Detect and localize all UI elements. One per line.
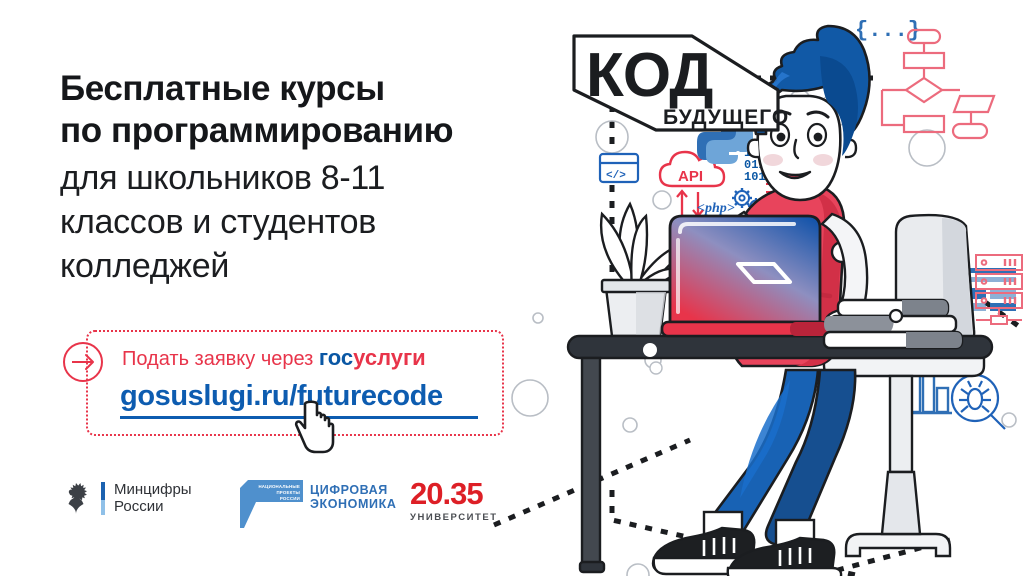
subtitle-line-3: колледжей: [60, 244, 530, 288]
cta-text: Подать заявку через госуслуги: [122, 345, 426, 371]
university-2035-subtitle: УНИВЕРСИТЕТ: [410, 512, 498, 523]
gosuslugi-brand-blue: гос: [319, 345, 353, 370]
headline-line-2: по программированию: [60, 110, 530, 152]
badge-title: КОД: [586, 41, 713, 110]
logo-university-2035: 20.35 УНИВЕРСИТЕТ: [410, 478, 498, 523]
national-projects-flag-icon: НАЦИОНАЛЬНЫЕ ПРОЕКТЫ РОССИИ: [240, 480, 303, 528]
flowchart-icon: [882, 30, 994, 138]
cta-url-link[interactable]: gosuslugi.ru/futurecode: [120, 380, 443, 413]
digital-economy-label: ЦИФРОВАЯ ЭКОНОМИКА: [310, 480, 396, 511]
kod-budushchego-badge: КОД БУДУЩЕГО: [560, 24, 792, 142]
page-subtitle: для школьников 8-11 классов и студентов …: [60, 156, 530, 288]
mincifry-line-2: России: [114, 498, 192, 515]
server-stack-icon: [976, 255, 1022, 324]
national-projects-flag-text: НАЦИОНАЛЬНЫЕ ПРОЕКТЫ РОССИИ: [248, 484, 300, 503]
badge-subtitle: БУДУЩЕГО: [663, 106, 789, 129]
php-tag-icon: <php>: [697, 201, 735, 216]
arrow-right-circle-icon[interactable]: [62, 341, 104, 383]
np-title-line-2: ЭКОНОМИКА: [310, 497, 396, 511]
mincifry-label: Минцифры России: [114, 481, 192, 515]
character-legs: [704, 370, 855, 546]
hand-pointer-cursor-icon: [292, 398, 338, 454]
university-2035-number: 20.35: [410, 478, 498, 510]
laptop: [662, 216, 828, 336]
np-title-line-1: ЦИФРОВАЯ: [310, 483, 396, 497]
book-stack-icon: [824, 300, 962, 348]
np-flag-line-3: РОССИИ: [248, 496, 300, 502]
headline-line-1: Бесплатные курсы: [60, 68, 530, 110]
bug-search-icon: [952, 375, 1005, 429]
svg-text:</>: </>: [606, 170, 626, 182]
subtitle-line-2: классов и студентов: [60, 200, 530, 244]
logo-divider: [101, 482, 105, 515]
page-title: Бесплатные курсы по программированию: [60, 68, 530, 152]
cta-prefix: Подать заявку через: [122, 348, 319, 370]
gosuslugi-brand-red: услуги: [353, 345, 426, 370]
browser-code-icon: </>: [600, 154, 638, 182]
svg-text:API: API: [678, 168, 703, 185]
logo-mincifry-rossii: Минцифры России: [60, 480, 192, 516]
logo-national-projects: НАЦИОНАЛЬНЫЕ ПРОЕКТЫ РОССИИ ЦИФРОВАЯ ЭКО…: [240, 480, 396, 528]
subtitle-line-1: для школьников 8-11: [60, 156, 530, 200]
promo-banner: Бесплатные курсы по программированию для…: [0, 0, 1024, 576]
mincifry-line-1: Минцифры: [114, 481, 192, 498]
russian-coat-of-arms-eagle-icon: [60, 480, 92, 516]
